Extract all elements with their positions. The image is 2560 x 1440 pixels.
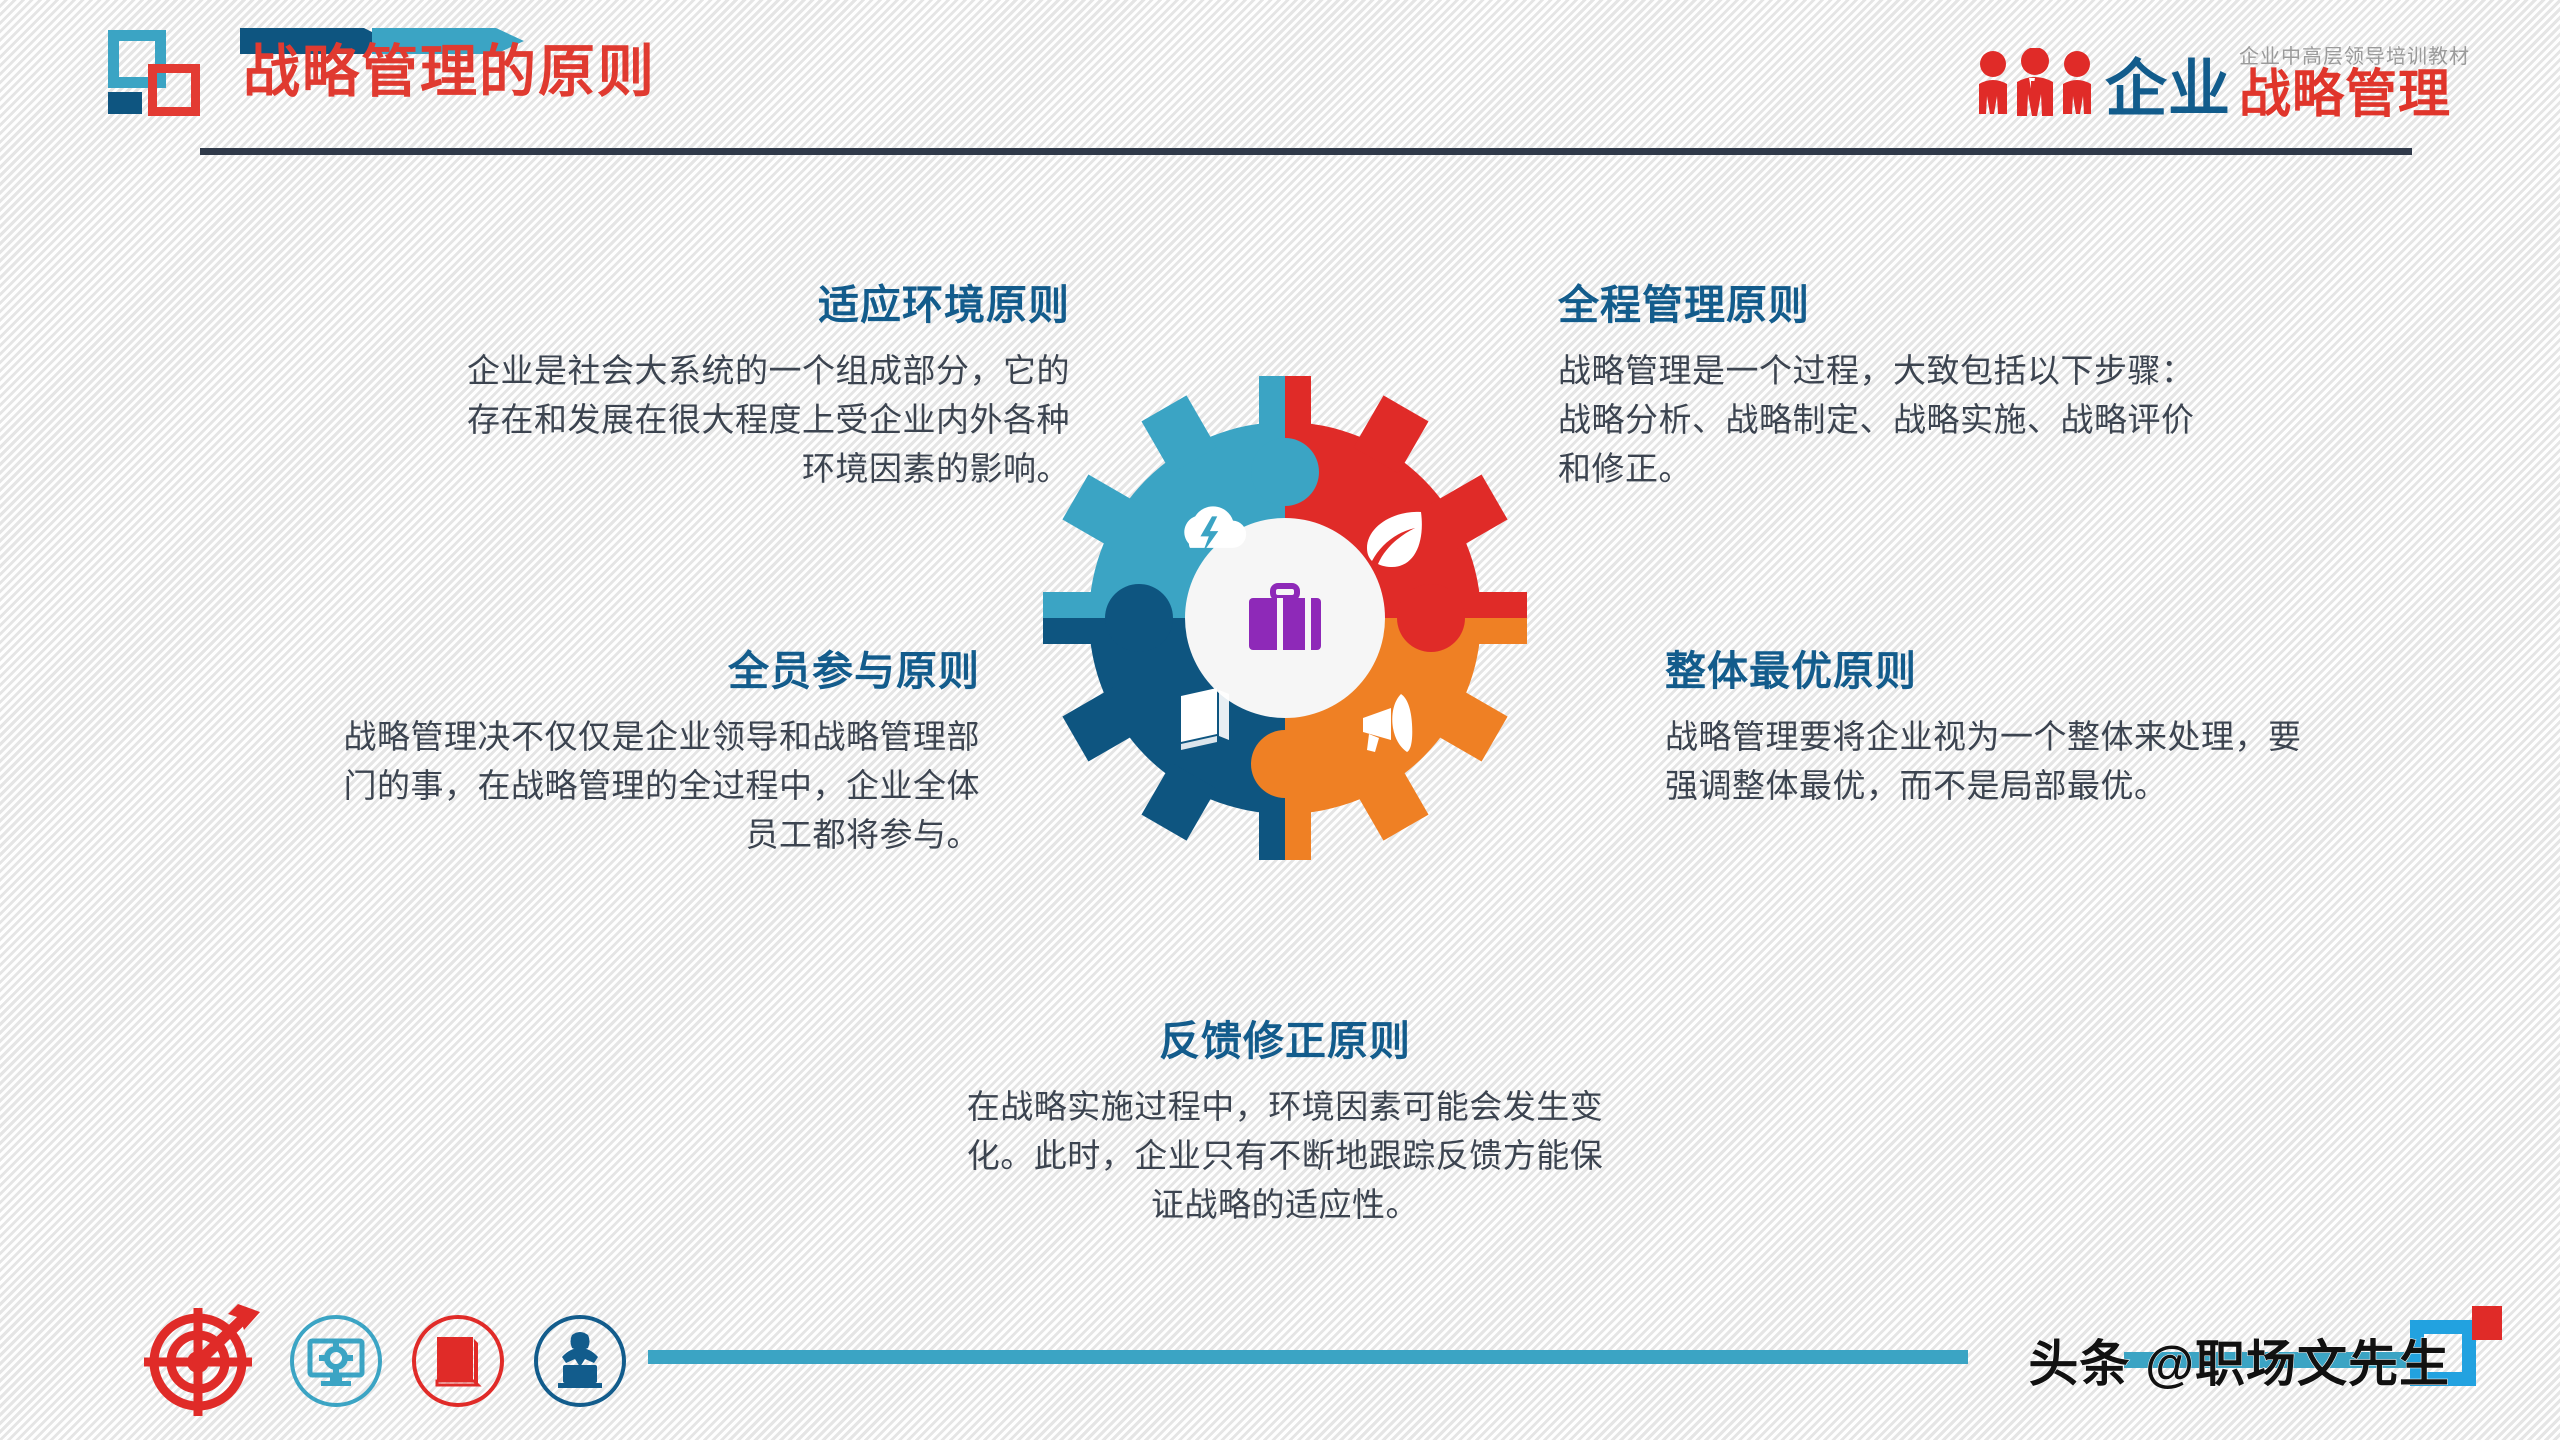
three-people-icon	[1975, 48, 2095, 120]
seam-tab-left	[1105, 584, 1173, 652]
principle-heading: 整体最优原则	[1665, 648, 2325, 695]
seam-tab-right	[1397, 584, 1465, 652]
principle-body: 企业是社会大系统的一个组成部分，它的存在和发展在很大程度上受企业内外各种环境因素…	[440, 347, 1070, 493]
principle-block-full-process: 全程管理原则 战略管理是一个过程，大致包括以下步骤：战略分析、战略制定、战略实施…	[1558, 282, 2198, 494]
principle-body: 战略管理要将企业视为一个整体来处理，要强调整体最优，而不是局部最优。	[1665, 713, 2325, 811]
footer-icon-row	[140, 1300, 628, 1422]
principle-block-overall-optimum: 整体最优原则 战略管理要将企业视为一个整体来处理，要强调整体最优，而不是局部最优…	[1665, 648, 2325, 811]
principle-block-all-staff: 全员参与原则 战略管理决不仅仅是企业领导和战略管理部门的事，在战略管理的全过程中…	[320, 648, 980, 860]
header-logo-icon	[108, 30, 200, 108]
four-quadrant-gear-diagram	[1035, 368, 1535, 868]
principle-heading: 全程管理原则	[1558, 282, 2198, 329]
monitor-gear-icon	[288, 1313, 384, 1409]
principle-body: 在战略实施过程中，环境因素可能会发生变化。此时，企业只有不断地跟踪反馈方能保证战…	[955, 1083, 1615, 1229]
seam-tab-top	[1251, 438, 1319, 506]
header-divider	[200, 148, 2412, 155]
target-arrow-icon	[140, 1300, 262, 1422]
principle-heading: 反馈修正原则	[955, 1018, 1615, 1065]
logo-square-red	[148, 64, 200, 116]
book-icon	[410, 1313, 506, 1409]
principle-body: 战略管理决不仅仅是企业领导和战略管理部门的事，在战略管理的全过程中，企业全体员工…	[320, 713, 980, 859]
person-desk-icon	[532, 1313, 628, 1409]
watermark-text: 头条 @职场文先生	[2028, 1324, 2450, 1396]
logo-square-navy	[108, 92, 142, 114]
principle-heading: 全员参与原则	[320, 648, 980, 695]
seam-tab-bottom	[1251, 730, 1319, 798]
brand-lockup: 企业 企业中高层领导培训教材 战略管理	[1975, 34, 2470, 120]
principle-heading: 适应环境原则	[440, 282, 1070, 329]
brand-main-title: 战略管理	[2239, 71, 2451, 120]
principle-block-feedback: 反馈修正原则 在战略实施过程中，环境因素可能会发生变化。此时，企业只有不断地跟踪…	[955, 1018, 1615, 1230]
principle-body: 战略管理是一个过程，大致包括以下步骤：战略分析、战略制定、战略实施、战略评价和修…	[1558, 347, 2198, 493]
brand-subtitle: 企业中高层领导培训教材	[2239, 47, 2470, 67]
watermark-red-square	[2472, 1306, 2502, 1340]
principle-block-adapt: 适应环境原则 企业是社会大系统的一个组成部分，它的存在和发展在很大程度上受企业内…	[440, 282, 1070, 494]
brand-wordmark: 企业	[2105, 61, 2231, 120]
page-title: 战略管理的原则	[243, 44, 656, 101]
footer-divider-bar	[648, 1350, 1968, 1364]
